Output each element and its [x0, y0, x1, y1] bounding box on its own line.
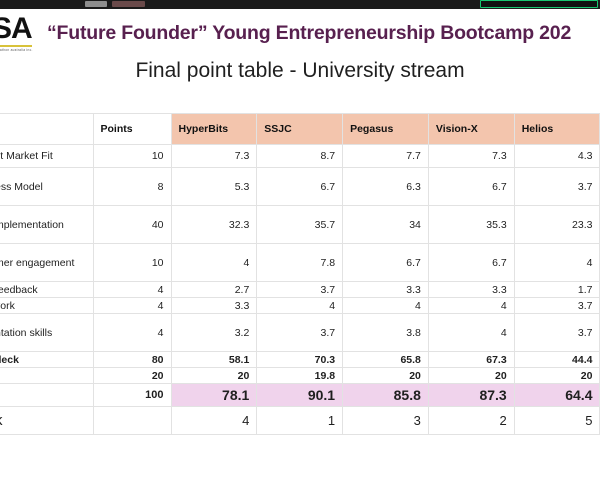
table-row: 10078.190.185.887.364.4 [0, 384, 600, 407]
organization-logo: SA hackathon australia inc. [0, 14, 36, 54]
row-points-cell: 80 [93, 352, 171, 368]
row-score-cell: 4 [514, 244, 600, 282]
row-score-cell: 6.7 [343, 244, 429, 282]
row-score-cell: 2 [428, 407, 514, 435]
row-label-cell: mplementation [0, 206, 93, 244]
row-score-cell: 90.1 [257, 384, 343, 407]
row-score-cell: 3.3 [343, 282, 429, 298]
logo-mark-text: SA [0, 14, 36, 44]
row-score-cell: 6.7 [428, 168, 514, 206]
row-score-cell: 23.3 [514, 206, 600, 244]
row-score-cell: 3.7 [514, 298, 600, 314]
table-body: ct Market Fit107.38.77.77.34.3ess Model8… [0, 145, 600, 435]
row-score-cell: 78.1 [171, 384, 257, 407]
row-score-cell: 32.3 [171, 206, 257, 244]
row-score-cell: 7.8 [257, 244, 343, 282]
row-score-cell: 35.7 [257, 206, 343, 244]
row-label-cell: deck [0, 352, 93, 368]
table-row: deck8058.170.365.867.344.4 [0, 352, 600, 368]
row-score-cell: 64.4 [514, 384, 600, 407]
points-table-container: Points HyperBits SSJC Pegasus Vision-X H… [0, 113, 600, 435]
browser-tab-2[interactable] [112, 1, 145, 7]
row-label-cell: feedback [0, 282, 93, 298]
row-score-cell: 4 [343, 298, 429, 314]
row-score-cell: 20 [171, 368, 257, 384]
row-score-cell: 6.3 [343, 168, 429, 206]
row-score-cell: 87.3 [428, 384, 514, 407]
row-score-cell: 4 [428, 314, 514, 352]
row-score-cell: 3.3 [428, 282, 514, 298]
row-score-cell: 7.3 [171, 145, 257, 168]
column-header-helios: Helios [514, 114, 600, 145]
row-points-cell: 10 [93, 145, 171, 168]
row-score-cell: 3.7 [514, 314, 600, 352]
table-row: k41325 [0, 407, 600, 435]
logo-tagline: hackathon australia inc. [0, 48, 36, 52]
table-row: mplementation4032.335.73435.323.3 [0, 206, 600, 244]
table-row: mer engagement1047.86.76.74 [0, 244, 600, 282]
row-score-cell: 8.7 [257, 145, 343, 168]
column-header-visionx: Vision-X [428, 114, 514, 145]
row-score-cell: 5 [514, 407, 600, 435]
row-score-cell: 1.7 [514, 282, 600, 298]
row-score-cell: 44.4 [514, 352, 600, 368]
row-label-cell: k [0, 407, 93, 435]
slide-canvas: SA hackathon australia inc. “Future Foun… [0, 9, 600, 483]
table-header-row: Points HyperBits SSJC Pegasus Vision-X H… [0, 114, 600, 145]
row-score-cell: 7.3 [428, 145, 514, 168]
column-header-pegasus: Pegasus [343, 114, 429, 145]
table-row: ct Market Fit107.38.77.77.34.3 [0, 145, 600, 168]
row-points-cell: 8 [93, 168, 171, 206]
row-score-cell: 1 [257, 407, 343, 435]
row-label-cell: mer engagement [0, 244, 93, 282]
row-score-cell: 4 [257, 298, 343, 314]
table-row: feedback42.73.73.33.31.7 [0, 282, 600, 298]
table-row: 202019.8202020 [0, 368, 600, 384]
row-score-cell: 58.1 [171, 352, 257, 368]
page-title: “Future Founder” Young Entrepreneurship … [47, 22, 571, 45]
row-score-cell: 70.3 [257, 352, 343, 368]
column-header-criteria [0, 114, 93, 145]
column-header-points: Points [93, 114, 171, 145]
row-score-cell: 4 [171, 407, 257, 435]
row-points-cell: 100 [93, 384, 171, 407]
row-label-cell: vork [0, 298, 93, 314]
row-points-cell: 4 [93, 282, 171, 298]
row-score-cell: 20 [428, 368, 514, 384]
row-label-cell: ess Model [0, 168, 93, 206]
row-score-cell: 2.7 [171, 282, 257, 298]
row-points-cell: 4 [93, 298, 171, 314]
row-score-cell: 3.2 [171, 314, 257, 352]
row-score-cell: 4 [171, 244, 257, 282]
table-row: vork43.34443.7 [0, 298, 600, 314]
row-score-cell: 85.8 [343, 384, 429, 407]
table-row: ess Model85.36.76.36.73.7 [0, 168, 600, 206]
row-score-cell: 3.3 [171, 298, 257, 314]
row-points-cell: 20 [93, 368, 171, 384]
row-score-cell: 3.7 [514, 168, 600, 206]
row-score-cell: 4 [428, 298, 514, 314]
final-points-table: Points HyperBits SSJC Pegasus Vision-X H… [0, 113, 600, 435]
column-header-ssjc: SSJC [257, 114, 343, 145]
row-score-cell: 6.7 [428, 244, 514, 282]
row-points-cell [93, 407, 171, 435]
browser-chrome-bar [0, 0, 600, 9]
row-score-cell: 7.7 [343, 145, 429, 168]
row-score-cell: 65.8 [343, 352, 429, 368]
slide-bottom-margin [0, 449, 600, 492]
row-score-cell: 34 [343, 206, 429, 244]
row-score-cell: 3 [343, 407, 429, 435]
row-points-cell: 4 [93, 314, 171, 352]
row-score-cell: 4.3 [514, 145, 600, 168]
row-points-cell: 10 [93, 244, 171, 282]
row-score-cell: 20 [514, 368, 600, 384]
row-label-cell: ct Market Fit [0, 145, 93, 168]
row-label-cell: ntation skills [0, 314, 93, 352]
row-label-cell [0, 384, 93, 407]
row-score-cell: 6.7 [257, 168, 343, 206]
page-subtitle: Final point table - University stream [0, 59, 600, 83]
row-score-cell: 3.7 [257, 282, 343, 298]
logo-underline [0, 45, 32, 47]
row-score-cell: 5.3 [171, 168, 257, 206]
row-score-cell: 35.3 [428, 206, 514, 244]
table-row: ntation skills43.23.73.843.7 [0, 314, 600, 352]
browser-tab-1[interactable] [85, 1, 107, 7]
row-points-cell: 40 [93, 206, 171, 244]
row-score-cell: 3.7 [257, 314, 343, 352]
row-score-cell: 19.8 [257, 368, 343, 384]
row-score-cell: 20 [343, 368, 429, 384]
row-score-cell: 3.8 [343, 314, 429, 352]
row-label-cell [0, 368, 93, 384]
primary-action-button[interactable] [480, 0, 598, 8]
row-score-cell: 67.3 [428, 352, 514, 368]
column-header-hyperbits: HyperBits [171, 114, 257, 145]
